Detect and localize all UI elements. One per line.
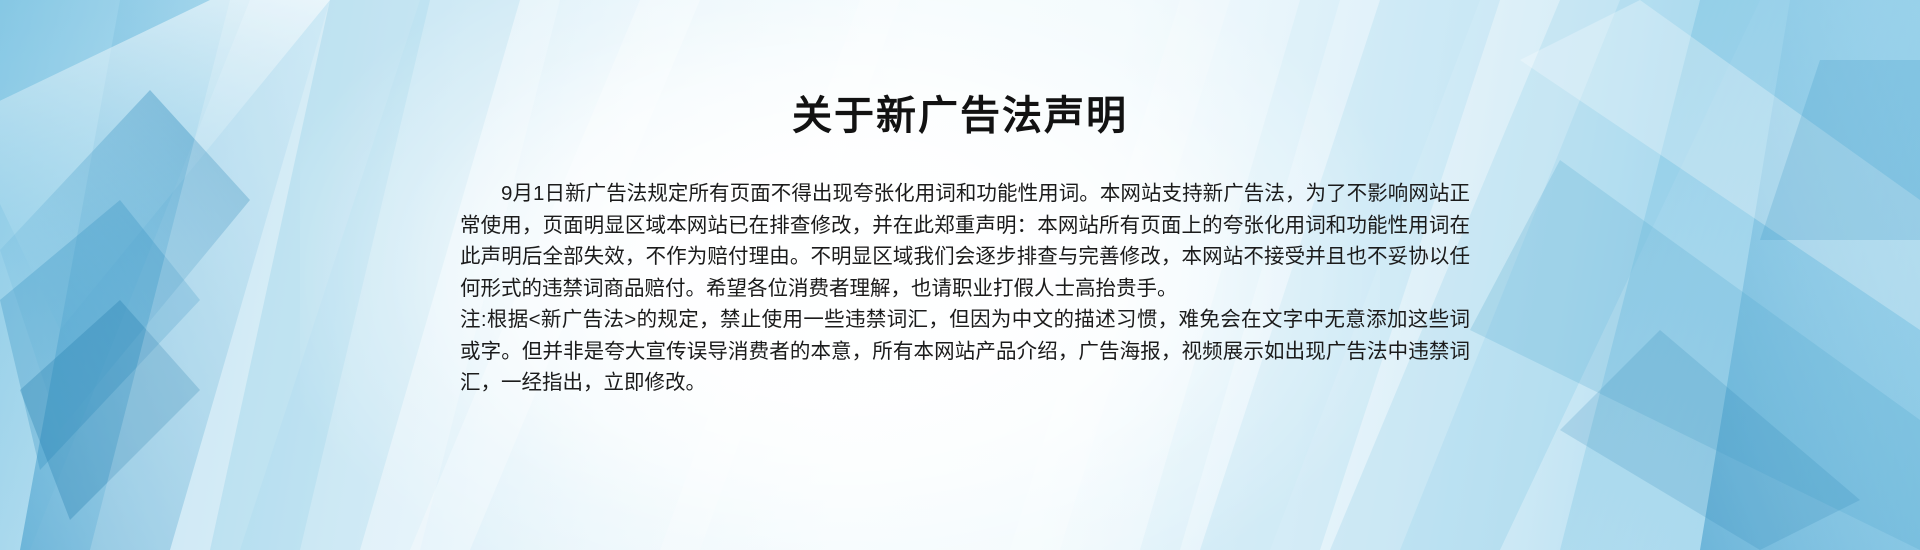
page-title: 关于新广告法声明 — [0, 92, 1920, 140]
advertising-law-statement-banner: 关于新广告法声明 9月1日新广告法规定所有页面不得出现夸张化用词和功能性用词。本… — [0, 0, 1920, 550]
statement-content: 关于新广告法声明 9月1日新广告法规定所有页面不得出现夸张化用词和功能性用词。本… — [0, 0, 1920, 550]
statement-text-block: 9月1日新广告法规定所有页面不得出现夸张化用词和功能性用词。本网站支持新广告法，… — [460, 178, 1470, 399]
statement-paragraph-2: 注:根据<新广告法>的规定，禁止使用一些违禁词汇，但因为中文的描述习惯，难免会在… — [460, 304, 1470, 399]
statement-paragraph-1: 9月1日新广告法规定所有页面不得出现夸张化用词和功能性用词。本网站支持新广告法，… — [460, 178, 1470, 304]
